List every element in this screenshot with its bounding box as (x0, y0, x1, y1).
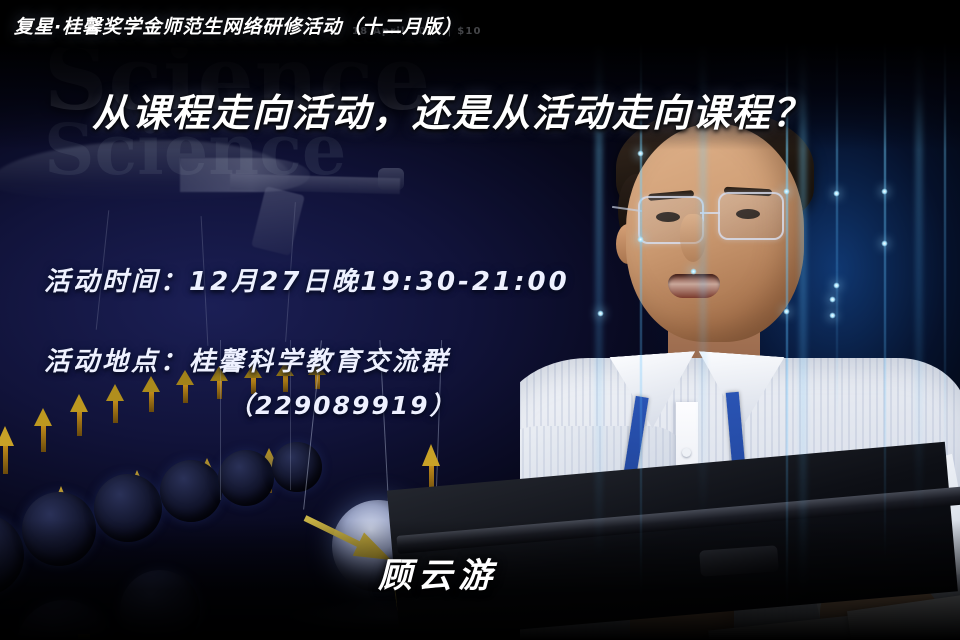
main-title: 从课程走向活动，还是从活动走向课程？ (92, 82, 812, 137)
speaker-mouth (668, 274, 720, 298)
speaker-name: 顾云游 (378, 548, 498, 597)
header-title: 复星·桂馨奖学金师范生网络研修活动（十二月版） (14, 12, 462, 39)
event-place: 活动地点：桂馨科学教育交流群 (44, 341, 450, 378)
event-time: 活动时间：12月27日晚19:30-21:00 (44, 261, 570, 298)
event-group-id: （229089919） (228, 386, 457, 422)
glasses-right-lens (718, 192, 784, 240)
poster-canvas: Science Science (0, 0, 960, 640)
